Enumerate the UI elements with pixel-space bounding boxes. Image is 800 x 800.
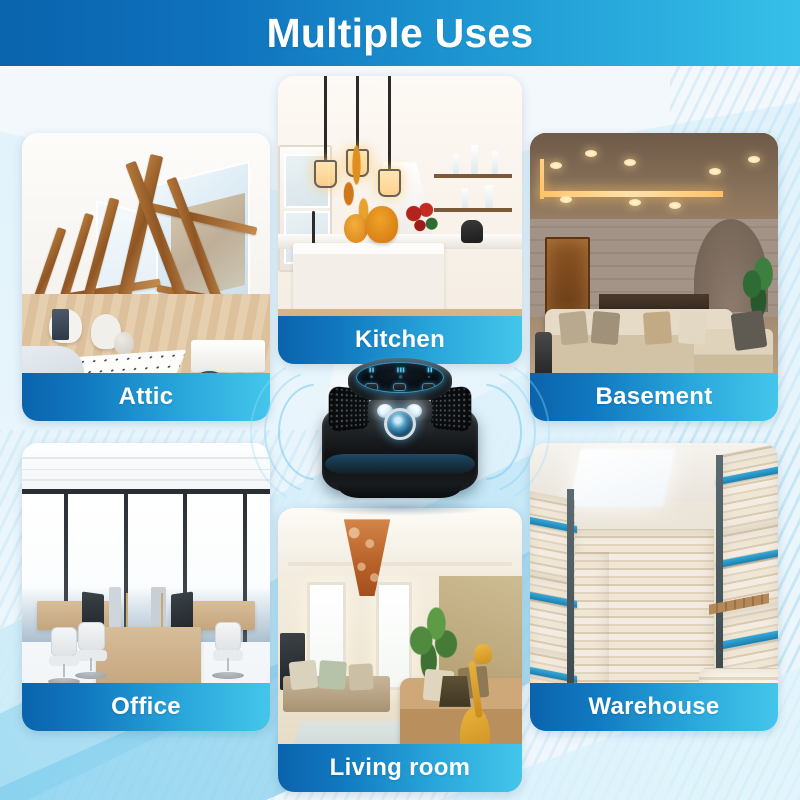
warehouse-skylight bbox=[569, 449, 675, 507]
card-label-basement: Basement bbox=[530, 373, 778, 421]
kitchen-jar-2 bbox=[462, 188, 468, 208]
office-monitor-3 bbox=[151, 587, 166, 630]
office-chair-post bbox=[63, 664, 65, 677]
kitchen-bottle-1 bbox=[492, 151, 498, 174]
attic-pouf bbox=[114, 332, 134, 355]
card-label-warehouse: Warehouse bbox=[530, 683, 778, 731]
wave-indicator-icon: ≋ bbox=[370, 375, 373, 379]
card-label-text: Living room bbox=[330, 754, 471, 782]
basement-cushion-4 bbox=[678, 311, 707, 344]
basement-cushion-5 bbox=[731, 310, 768, 352]
basement-ceiling bbox=[530, 133, 778, 231]
office-ceiling-line-2 bbox=[22, 469, 270, 471]
card-label-text: Basement bbox=[595, 383, 712, 411]
use-case-card-warehouse[interactable]: Warehouse bbox=[530, 443, 778, 731]
office-window-header bbox=[22, 489, 270, 494]
panel-readout-left: ▐▐ bbox=[368, 368, 374, 372]
panel-button-center[interactable] bbox=[393, 383, 406, 391]
panel-indicator-row: ≋ ◎ ≈ bbox=[357, 375, 443, 379]
use-case-card-basement[interactable]: Basement bbox=[530, 133, 778, 421]
warehouse-rack-post-right bbox=[716, 455, 723, 685]
panel-readout-right: ▐▐ bbox=[426, 368, 432, 372]
use-case-card-kitchen[interactable]: Kitchen bbox=[278, 76, 522, 364]
office-chair-back bbox=[78, 622, 104, 652]
device-blue-band bbox=[325, 454, 475, 474]
device-base bbox=[338, 484, 462, 498]
kitchen-faucet bbox=[312, 211, 315, 246]
office-chair-2 bbox=[74, 622, 109, 680]
office-monitor-2 bbox=[109, 587, 121, 630]
card-label-text: Attic bbox=[119, 383, 174, 411]
basement-door bbox=[545, 237, 590, 318]
office-chair-back bbox=[215, 622, 241, 652]
basement-spotlight-6 bbox=[669, 202, 681, 209]
card-label-text: Warehouse bbox=[588, 693, 719, 721]
kitchen-pumpkin-large bbox=[366, 206, 398, 243]
basement-cushion-2 bbox=[591, 310, 621, 344]
living-room-cushion-2 bbox=[319, 660, 348, 690]
basement-spotlight-1 bbox=[550, 162, 562, 169]
kitchen-shelf-1 bbox=[434, 174, 512, 178]
living-room-cornice bbox=[288, 562, 512, 566]
device-sensor-lens bbox=[384, 408, 416, 440]
office-chair-base bbox=[212, 672, 244, 679]
device-assembly: ▐▐ ▐▐▐ ▐▐ ≋ ◎ ≈ bbox=[322, 358, 478, 498]
page-title: Multiple Uses bbox=[267, 13, 534, 54]
kitchen-island bbox=[293, 243, 444, 312]
card-label-living-room: Living room bbox=[278, 744, 522, 792]
card-label-text: Office bbox=[111, 693, 181, 721]
office-chair-base bbox=[75, 672, 107, 679]
attic-radiator bbox=[191, 340, 265, 372]
panel-readout-row: ▐▐ ▐▐▐ ▐▐ bbox=[357, 368, 443, 372]
basement-cushion-1 bbox=[558, 310, 588, 344]
infographic-page: Multiple Uses A bbox=[0, 0, 800, 800]
office-chair-post bbox=[90, 658, 92, 671]
signal-indicator-icon: ≈ bbox=[428, 375, 430, 379]
office-ceiling bbox=[22, 443, 270, 492]
kitchen-kettle bbox=[461, 220, 483, 243]
product-device: ▐▐ ▐▐▐ ▐▐ ≋ ◎ ≈ bbox=[284, 352, 516, 512]
kitchen-pendant-1 bbox=[324, 76, 327, 162]
flamingo-head bbox=[474, 644, 492, 664]
warehouse-rack-post-left bbox=[567, 489, 574, 696]
office-chair-post bbox=[227, 658, 229, 671]
living-room-cushion-1 bbox=[289, 660, 319, 691]
panel-button-row bbox=[357, 383, 443, 391]
kitchen-pumpkin-small bbox=[344, 214, 368, 243]
device-control-panel[interactable]: ▐▐ ▐▐▐ ▐▐ ≋ ◎ ≈ bbox=[356, 362, 444, 393]
card-label-attic: Attic bbox=[22, 373, 270, 421]
basement-cushion-3 bbox=[643, 311, 672, 344]
basement-spotlight-3 bbox=[624, 159, 636, 166]
use-case-card-living-room[interactable]: Living room bbox=[278, 508, 522, 792]
use-case-card-office[interactable]: Office bbox=[22, 443, 270, 731]
kitchen-pendant-3 bbox=[388, 76, 391, 171]
office-ceiling-line-1 bbox=[22, 457, 270, 459]
kitchen-shelf-2 bbox=[434, 208, 512, 212]
basement-plant bbox=[736, 248, 776, 320]
panel-button-right[interactable] bbox=[422, 383, 435, 391]
header-banner: Multiple Uses bbox=[0, 0, 800, 66]
office-ceiling-line-3 bbox=[22, 479, 270, 481]
card-label-office: Office bbox=[22, 683, 270, 731]
kitchen-bottle-3 bbox=[453, 154, 459, 174]
basement-cove-light-side bbox=[540, 159, 544, 199]
office-chair-3 bbox=[210, 622, 245, 680]
attic-bag bbox=[52, 309, 69, 341]
basement-spotlight-2 bbox=[585, 150, 597, 157]
panel-readout-center: ▐▐▐ bbox=[396, 368, 405, 372]
kitchen-bulb-1 bbox=[314, 160, 337, 188]
warehouse-stack-right-1 bbox=[718, 443, 778, 536]
kitchen-bottle-2 bbox=[471, 145, 478, 174]
use-case-card-attic[interactable]: Attic bbox=[22, 133, 270, 421]
kitchen-jar-1 bbox=[485, 185, 493, 208]
kitchen-flowers bbox=[402, 197, 441, 243]
kitchen-bulb-3 bbox=[378, 169, 401, 197]
office-desk-front bbox=[96, 627, 200, 690]
basement-spotlight-7 bbox=[709, 168, 721, 175]
power-indicator-icon: ◎ bbox=[399, 375, 403, 379]
living-room-cushion-3 bbox=[348, 664, 374, 691]
device-shadow bbox=[310, 500, 490, 516]
card-label-text: Kitchen bbox=[355, 326, 445, 354]
kitchen-pendant-2 bbox=[356, 76, 359, 151]
panel-button-left[interactable] bbox=[365, 383, 378, 391]
